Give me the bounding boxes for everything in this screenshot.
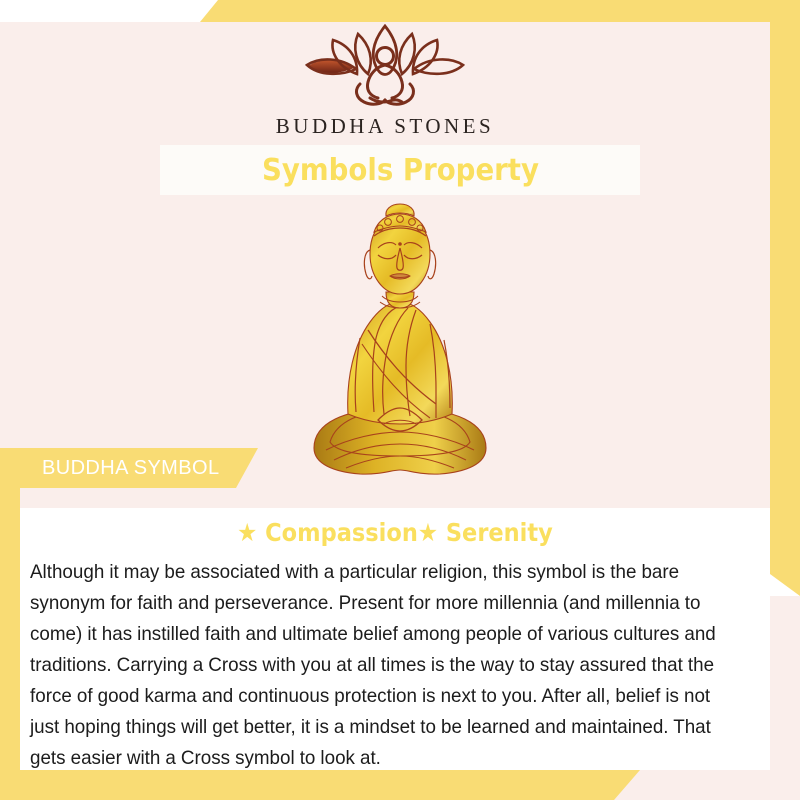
lotus-meditation-icon <box>300 24 470 110</box>
poster-root: BUDDHA STONES Symbols Property <box>0 0 800 800</box>
buddha-statue-image <box>290 198 510 490</box>
golden-buddha-illustration <box>290 198 510 490</box>
frame-band-right <box>770 0 800 596</box>
frame-band-bottom <box>0 770 640 800</box>
page-title: Symbols Property <box>262 153 539 188</box>
brand-wordmark: BUDDHA STONES <box>0 114 770 139</box>
section-body-text: Although it may be associated with a par… <box>30 557 736 774</box>
section-ribbon-label: BUDDHA SYMBOL <box>20 457 219 480</box>
section-subtitle: ★ Compassion★ Serenity <box>58 518 733 547</box>
brand-logo-block: BUDDHA STONES <box>0 24 770 139</box>
frame-band-top <box>200 0 800 22</box>
content-panel: ★ Compassion★ Serenity Although it may b… <box>20 508 770 770</box>
page-title-band: Symbols Property <box>160 145 640 195</box>
section-ribbon: BUDDHA SYMBOL <box>20 448 258 488</box>
frame-band-left <box>0 448 20 800</box>
